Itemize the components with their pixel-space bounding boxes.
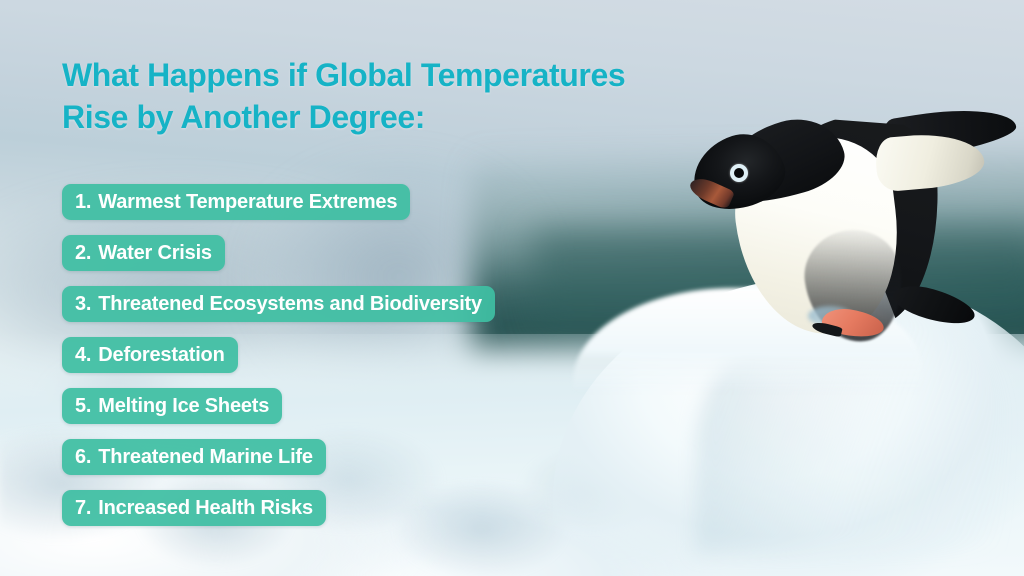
title-line-2: Rise by Another Degree:: [62, 96, 822, 138]
list-item-number: 3.: [75, 293, 91, 316]
page-title: What Happens if Global Temperatures Rise…: [62, 54, 822, 138]
list-item-number: 5.: [75, 395, 91, 418]
consequences-list: 1. Warmest Temperature Extremes 2. Water…: [62, 184, 495, 526]
list-item: 5. Melting Ice Sheets: [62, 388, 282, 424]
list-item: 3. Threatened Ecosystems and Biodiversit…: [62, 286, 495, 322]
list-item: 1. Warmest Temperature Extremes: [62, 184, 410, 220]
list-item-label: Warmest Temperature Extremes: [98, 191, 397, 214]
list-item: 2. Water Crisis: [62, 235, 225, 271]
infographic-canvas: What Happens if Global Temperatures Rise…: [0, 0, 1024, 576]
list-item-number: 7.: [75, 497, 91, 520]
text-overlay: What Happens if Global Temperatures Rise…: [0, 0, 1024, 576]
list-item: 7. Increased Health Risks: [62, 490, 326, 526]
list-item-number: 2.: [75, 242, 91, 265]
list-item: 4. Deforestation: [62, 337, 238, 373]
list-item-number: 4.: [75, 344, 91, 367]
list-item-label: Melting Ice Sheets: [98, 395, 269, 418]
list-item-label: Threatened Ecosystems and Biodiversity: [98, 293, 482, 316]
list-item-label: Deforestation: [98, 344, 224, 367]
list-item-number: 1.: [75, 191, 91, 214]
list-item-number: 6.: [75, 446, 91, 469]
list-item-label: Water Crisis: [98, 242, 212, 265]
list-item: 6. Threatened Marine Life: [62, 439, 326, 475]
list-item-label: Increased Health Risks: [98, 497, 313, 520]
list-item-label: Threatened Marine Life: [98, 446, 313, 469]
title-line-1: What Happens if Global Temperatures: [62, 54, 822, 96]
